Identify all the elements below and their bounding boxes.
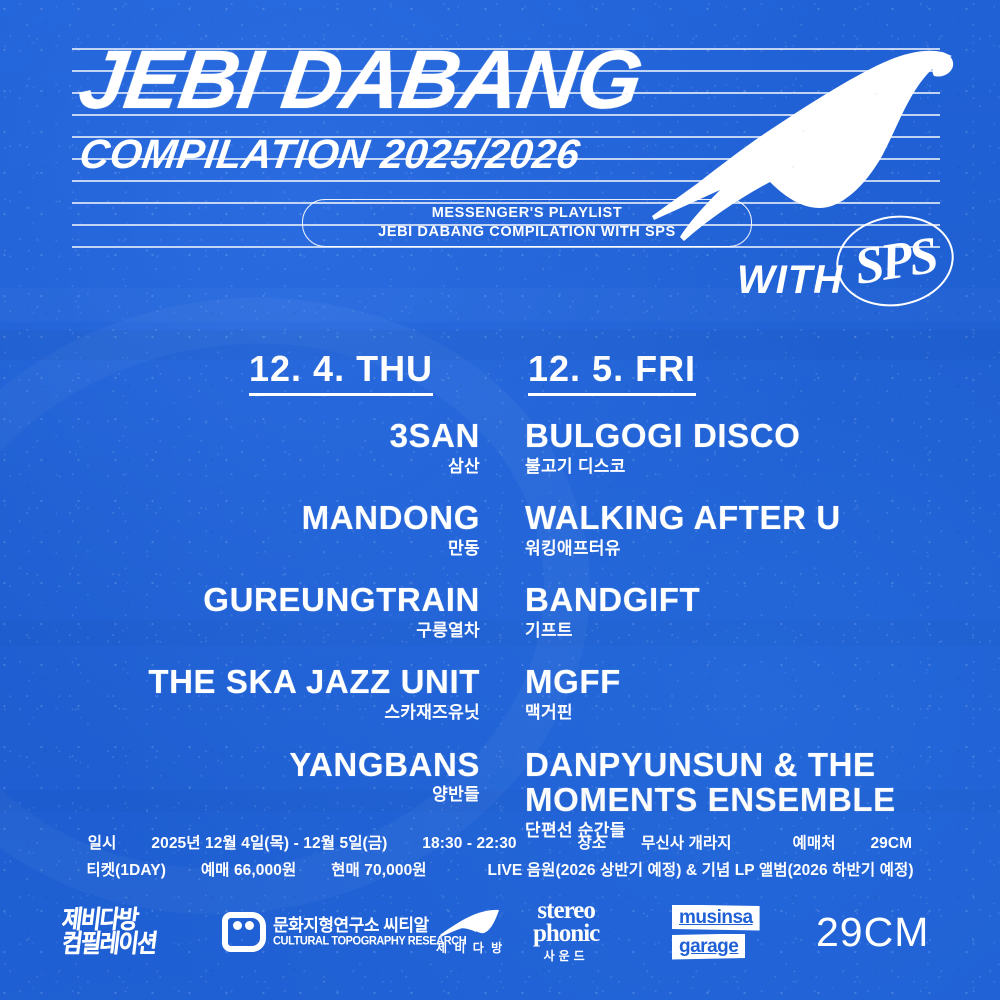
list-item: 3SAN 삼산	[40, 418, 480, 479]
sponsor-logo-row: 제비다방 컴필레이션 문화지형연구소 씨티알 CULTURAL TOPOGRAP…	[0, 896, 1000, 968]
tagline-line-1: MESSENGER'S PLAYLIST	[432, 204, 623, 223]
list-item: DANPYUNSUN & THE MOMENTS ENSEMBLE 단편선 순간…	[525, 747, 945, 844]
act-name-ko: 구릉열차	[40, 618, 480, 644]
date-heading-day1: 12. 4. THU	[249, 348, 433, 396]
act-name-ko: 맥거핀	[525, 700, 945, 726]
jebi-dabang-compilation-logo: 제비다방 컴필레이션	[62, 896, 156, 968]
info-ticket-label: 티켓(1DAY)	[86, 862, 166, 879]
info-line-2: 티켓(1DAY) 예매 66,000원 현매 70,000원 LIVE 음원(2…	[0, 858, 1000, 885]
event-info: 일시 2025년 12월 4일(목) - 12월 5일(금) 18:30 - 2…	[0, 831, 1000, 884]
jebi-bird-caption: 제 비 다 방	[436, 939, 504, 956]
tagline-line-2: JEBI DABANG COMPILATION WITH SPS	[378, 223, 676, 242]
date-heading-day2: 12. 5. FRI	[528, 348, 696, 396]
with-label: WITH	[737, 258, 843, 303]
sps-logo-text: SPS	[832, 210, 958, 313]
swallow-bird-small-icon	[439, 908, 501, 938]
list-item: BULGOGI DISCO 불고기 디스코	[525, 418, 945, 479]
stereophonic-korean: 사운드	[544, 947, 589, 964]
act-name-ko: 만동	[40, 536, 480, 562]
poster-canvas: JEBI DABANG COMPILATION 2025/2026 MESSEN…	[0, 0, 1000, 1000]
info-door-price: 현매 70,000원	[331, 862, 427, 879]
act-name-en: 3SAN	[40, 418, 480, 454]
info-date-value: 2025년 12월 4일(목) - 12월 5일(금)	[151, 835, 387, 852]
info-ticketvendor-value: 29CM	[870, 835, 912, 852]
lineup-column-day2: BULGOGI DISCO 불고기 디스코 WALKING AFTER U 워킹…	[525, 418, 945, 864]
page-title: JEBI DABANG	[75, 42, 726, 118]
act-name-en: YANGBANS	[40, 747, 480, 783]
page-subtitle: COMPILATION 2025/2026	[77, 134, 783, 175]
act-name-ko: 양반들	[40, 782, 480, 808]
info-venue-value: 무신사 개라지	[641, 835, 732, 852]
jebi-dabang-bird-logo: 제 비 다 방	[436, 896, 504, 968]
stereophonic-line2: phonic	[533, 923, 599, 946]
act-name-ko: 스카재즈유닛	[40, 700, 480, 726]
list-item: BANDGIFT 기프트	[525, 582, 945, 643]
29cm-logo: 29CM	[816, 896, 929, 968]
info-presale-price: 예매 66,000원	[201, 862, 297, 879]
act-name-en: WALKING AFTER U	[525, 500, 945, 536]
ctp-logo: 문화지형연구소 씨티알 CULTURAL TOPOGRAPHY RESEARCH	[222, 896, 466, 968]
act-name-en: BULGOGI DISCO	[525, 418, 945, 454]
act-name-ko: 워킹애프터유	[525, 536, 945, 562]
act-name-en: THE SKA JAZZ UNIT	[40, 664, 480, 700]
act-name-en: BANDGIFT	[525, 582, 945, 618]
act-name-ko: 불고기 디스코	[525, 454, 945, 480]
musinsa-line2: garage	[672, 934, 745, 960]
list-item: THE SKA JAZZ UNIT 스카재즈유닛	[40, 664, 480, 725]
act-name-ko: 기프트	[525, 618, 945, 644]
list-item: MANDONG 만동	[40, 500, 480, 561]
lineup-column-day1: 3SAN 삼산 MANDONG 만동 GUREUNGTRAIN 구릉열차 THE…	[40, 418, 480, 829]
act-name-en: DANPYUNSUN & THE MOMENTS ENSEMBLE	[525, 747, 945, 818]
act-name-en: MANDONG	[40, 500, 480, 536]
act-name-ko: 삼산	[40, 454, 480, 480]
list-item: WALKING AFTER U 워킹애프터유	[525, 500, 945, 561]
list-item: MGFF 맥거핀	[525, 664, 945, 725]
ctp-mark-icon	[222, 912, 266, 952]
act-name-en: GUREUNGTRAIN	[40, 582, 480, 618]
info-ticketvendor-label: 예매처	[793, 835, 836, 852]
musinsa-garage-logo: musinsa garage	[672, 896, 760, 968]
info-venue-label: 장소	[578, 835, 607, 852]
list-item: YANGBANS 양반들	[40, 747, 480, 808]
list-item: GUREUNGTRAIN 구릉열차	[40, 582, 480, 643]
info-time-value: 18:30 - 22:30	[422, 835, 516, 852]
info-live-release: LIVE 음원(2026 상반기 예정) & 기념 LP 앨범(2026 하반기…	[488, 862, 914, 879]
tagline-box: MESSENGER'S PLAYLIST JEBI DABANG COMPILA…	[302, 199, 752, 247]
musinsa-line1: musinsa	[672, 905, 760, 931]
stereophonic-logo: stereo phonic 사운드	[533, 896, 599, 968]
jebi-dabang-logo-line2: 컴필레이션	[60, 930, 157, 957]
info-line-1: 일시 2025년 12월 4일(목) - 12월 5일(금) 18:30 - 2…	[0, 831, 1000, 858]
act-name-en: MGFF	[525, 664, 945, 700]
info-date-label: 일시	[88, 835, 117, 852]
